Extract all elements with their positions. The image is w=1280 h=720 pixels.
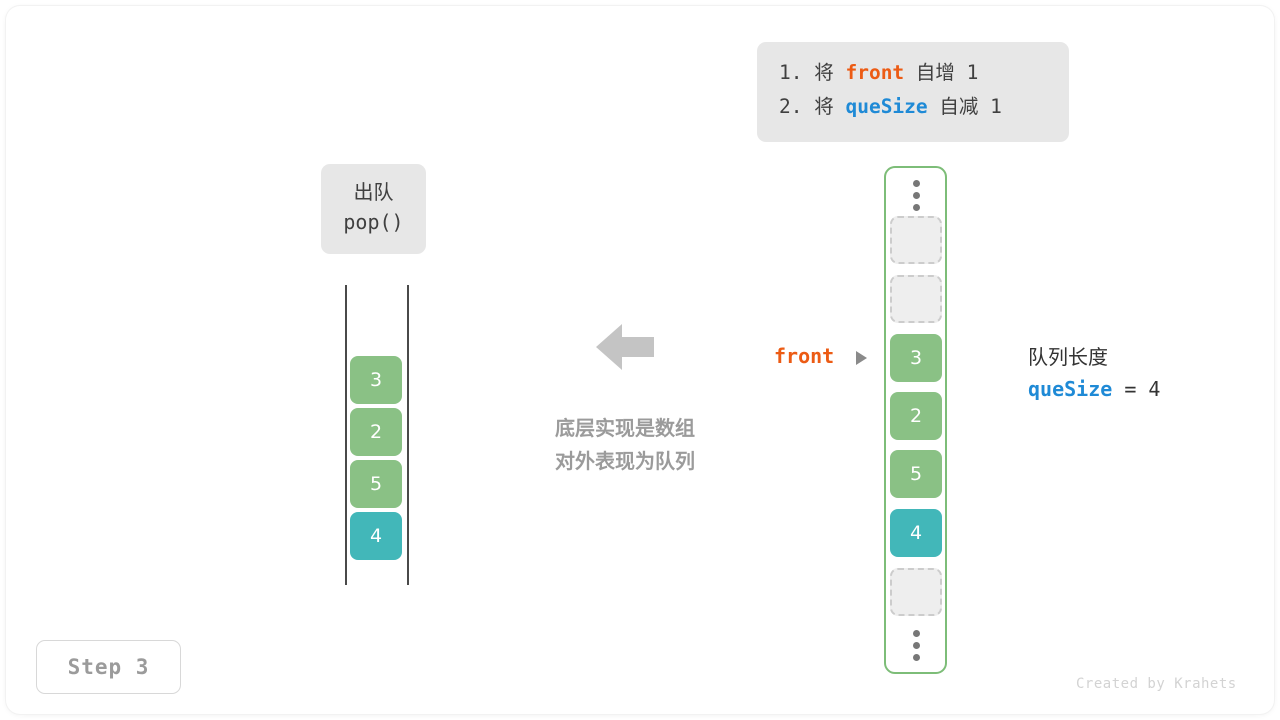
caption-line-2: 对外表现为队列 xyxy=(529,445,721,478)
queue-size-variable: queSize xyxy=(1028,377,1112,401)
array-slot-empty xyxy=(890,216,942,264)
array-container: 3 2 5 4 xyxy=(884,166,947,674)
array-slot: 5 xyxy=(890,450,942,498)
front-pointer-arrow-icon xyxy=(856,351,867,365)
queue-cell: 3 xyxy=(350,356,402,404)
instruction-line-2: 2. 将 queSize 自减 1 xyxy=(779,90,1047,124)
caption-line-1: 底层实现是数组 xyxy=(529,412,721,445)
operation-label-box: 出队 pop() xyxy=(321,164,426,254)
instruction-box: 1. 将 front 自增 1 2. 将 queSize 自减 1 xyxy=(757,42,1069,142)
queue-cell: 5 xyxy=(350,460,402,508)
step-badge: Step 3 xyxy=(36,640,181,694)
diagram-canvas: 1. 将 front 自增 1 2. 将 queSize 自减 1 出队 pop… xyxy=(0,0,1280,720)
instruction-line-1: 1. 将 front 自增 1 xyxy=(779,56,1047,90)
ellipsis-icon-bottom xyxy=(913,630,920,666)
front-pointer-label: front xyxy=(774,344,834,368)
instruction-1-prefix: 1. 将 xyxy=(779,61,845,84)
queue-rail-right xyxy=(407,285,409,585)
footer-credit: Created by Krahets xyxy=(1076,676,1237,692)
array-slot: 2 xyxy=(890,392,942,440)
array-slot-empty xyxy=(890,568,942,616)
queue-rail-left xyxy=(345,285,347,585)
instruction-2-keyword: queSize xyxy=(845,95,927,118)
instruction-1-keyword: front xyxy=(845,61,904,84)
queue-cell-stack: 3 2 5 4 xyxy=(350,356,402,564)
operation-label-function: pop() xyxy=(321,207,426,237)
queue-cell: 2 xyxy=(350,408,402,456)
array-slot-front: 4 xyxy=(890,509,942,557)
queue-size-equals: = xyxy=(1112,377,1148,401)
queue-size-value: 4 xyxy=(1148,377,1160,401)
queue-size-annotation: 队列长度 queSize = 4 xyxy=(1028,342,1160,406)
operation-label-cn: 出队 xyxy=(321,177,426,207)
instruction-2-suffix: 自减 1 xyxy=(928,95,1002,118)
logical-queue: 3 2 5 4 xyxy=(345,285,409,585)
array-slot: 3 xyxy=(890,334,942,382)
left-arrow-icon xyxy=(596,322,654,372)
instruction-1-suffix: 自增 1 xyxy=(904,61,978,84)
queue-size-label: 队列长度 xyxy=(1028,342,1160,373)
array-slot-empty xyxy=(890,275,942,323)
instruction-2-prefix: 2. 将 xyxy=(779,95,845,118)
ellipsis-icon-top xyxy=(913,180,920,216)
queue-cell: 4 xyxy=(350,512,402,560)
diagram-caption: 底层实现是数组 对外表现为队列 xyxy=(529,412,721,478)
queue-size-expression: queSize = 4 xyxy=(1028,373,1160,406)
